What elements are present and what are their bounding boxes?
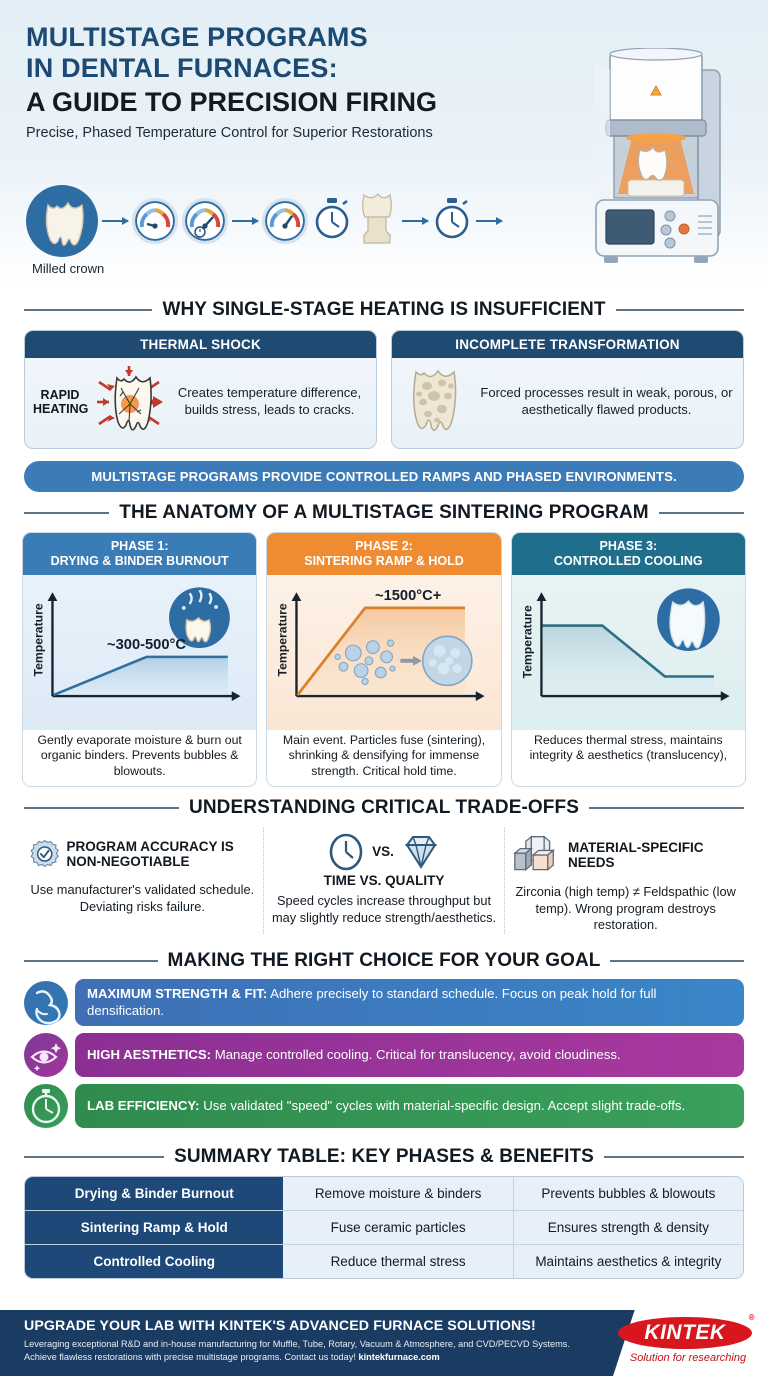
kintek-logo: KINTEK ® Solution for researching xyxy=(618,1317,758,1364)
goal-label: MAXIMUM STRENGTH & FIT: xyxy=(87,986,267,1001)
phase-card-2: PHASE 2: SINTERING RAMP & HOLD Temperatu… xyxy=(266,532,501,787)
process-flow: Milled crown xyxy=(26,185,546,281)
summary-table: Drying & Binder Burnout Remove moisture … xyxy=(24,1176,744,1279)
phase-header: PHASE 2: SINTERING RAMP & HOLD xyxy=(267,533,500,575)
eye-sparkle-icon xyxy=(24,1033,68,1077)
divider-line xyxy=(24,512,109,514)
footer-line-1: Leveraging exceptional R&D and in-house … xyxy=(24,1339,570,1349)
process-flow-steps xyxy=(26,185,546,257)
table-row: Controlled Cooling Reduce thermal stress… xyxy=(25,1244,743,1278)
card-text: Forced processes result in weak, porous,… xyxy=(478,385,735,418)
goal-list: MAXIMUM STRENGTH & FIT: Adhere precisely… xyxy=(24,979,744,1128)
divider-line xyxy=(616,309,744,311)
phase-2-value: ~1500°C+ xyxy=(375,588,441,604)
goal-high-aesthetics[interactable]: HIGH AESTHETICS: Manage controlled cooli… xyxy=(24,1033,744,1077)
logo-word: KINTEK xyxy=(644,1321,725,1345)
phase-2-chart: Temperature ~1500°C+ xyxy=(271,581,496,723)
phase-cards: PHASE 1: DRYING & BINDER BURNOUT xyxy=(22,532,746,787)
furnace-icon xyxy=(570,48,760,283)
table-row: Sintering Ramp & Hold Fuse ceramic parti… xyxy=(25,1210,743,1244)
phase-caption: Reduces thermal stress, maintains integr… xyxy=(512,730,745,771)
flow-arrow xyxy=(102,220,128,222)
y-axis-label: Temperature xyxy=(276,603,290,676)
stopwatch-icon xyxy=(432,196,472,247)
divider-line xyxy=(610,960,744,962)
footer-subtext: Leveraging exceptional R&D and in-house … xyxy=(24,1338,604,1365)
table-cell-phase: Drying & Binder Burnout xyxy=(25,1177,283,1210)
registered-mark-icon: ® xyxy=(749,1313,755,1322)
clock-icon xyxy=(327,831,365,871)
divider-line xyxy=(24,309,152,311)
goal-label: LAB EFFICIENCY: xyxy=(87,1098,200,1113)
phase-1-value: ~300-500°C xyxy=(107,637,186,653)
gauge-icon xyxy=(132,198,178,244)
y-axis-label: Temperature xyxy=(32,603,46,676)
section-title-why: WHY SINGLE-STAGE HEATING IS INSUFFICIENT xyxy=(24,289,744,321)
table-cell-phase: Controlled Cooling xyxy=(25,1245,283,1278)
multistage-banner: MULTISTAGE PROGRAMS PROVIDE CONTROLLED R… xyxy=(24,461,744,492)
divider-line xyxy=(24,960,158,962)
table-cell-phase: Sintering Ramp & Hold xyxy=(25,1211,283,1244)
phase-1-chart: Temperature ~300-500°C xyxy=(27,581,252,723)
phase-header: PHASE 1: DRYING & BINDER BURNOUT xyxy=(23,533,256,575)
phase-head-line2: CONTROLLED COOLING xyxy=(515,554,742,569)
tradeoff-material-specific: MATERIAL-SPECIFIC NEEDS Zirconia (high t… xyxy=(504,827,746,934)
milled-crown-label: Milled crown xyxy=(32,261,546,276)
footer-text: UPGRADE YOUR LAB WITH KINTEK'S ADVANCED … xyxy=(24,1318,604,1365)
card-text: Creates temperature difference, builds s… xyxy=(171,385,368,418)
goal-text: HIGH AESTHETICS: Manage controlled cooli… xyxy=(75,1033,744,1077)
phase-3-chart: Temperature xyxy=(516,581,741,723)
phase-caption: Main event. Particles fuse (sintering), … xyxy=(267,730,500,786)
tradeoff-columns: PROGRAM ACCURACY IS NON-NEGOTIABLE Use m… xyxy=(22,827,746,934)
flow-arrow xyxy=(476,220,502,222)
material-cubes-icon xyxy=(513,831,561,879)
table-cell-benefit: Ensures strength & density xyxy=(514,1211,743,1244)
why-cards: THERMAL SHOCK RAPIDHEATING xyxy=(24,330,744,449)
goal-lab-efficiency[interactable]: LAB EFFICIENCY: Use validated "speed" cy… xyxy=(24,1084,744,1128)
goal-body: Use validated "speed" cycles with materi… xyxy=(200,1098,686,1113)
section-title-summary: SUMMARY TABLE: KEY PHASES & BENEFITS xyxy=(24,1136,744,1168)
table-cell-action: Remove moisture & binders xyxy=(283,1177,513,1210)
goal-body: Manage controlled cooling. Critical for … xyxy=(211,1047,621,1062)
phase-head-line1: PHASE 1: xyxy=(26,539,253,554)
vs-label: VS. xyxy=(372,844,394,859)
card-thermal-shock: THERMAL SHOCK RAPIDHEATING xyxy=(24,330,377,449)
muscle-arm-icon xyxy=(24,981,68,1025)
goal-text: MAXIMUM STRENGTH & FIT: Adhere precisely… xyxy=(75,979,744,1026)
tradeoff-desc: Speed cycles increase throughput but may… xyxy=(272,893,497,926)
tradeoff-program-accuracy: PROGRAM ACCURACY IS NON-NEGOTIABLE Use m… xyxy=(22,827,263,934)
section-heading: SUMMARY TABLE: KEY PHASES & BENEFITS xyxy=(174,1146,594,1168)
logo-text: KINTEK ® xyxy=(618,1317,752,1349)
infographic-page: MULTISTAGE PROGRAMS IN DENTAL FURNACES: … xyxy=(0,0,768,1376)
diamond-icon xyxy=(401,831,441,871)
tradeoff-desc: Zirconia (high temp) ≠ Feldspathic (low … xyxy=(513,884,738,934)
phase-card-1: PHASE 1: DRYING & BINDER BURNOUT xyxy=(22,532,257,787)
card-header: INCOMPLETE TRANSFORMATION xyxy=(392,331,743,358)
tradeoff-title: PROGRAM ACCURACY IS NON-NEGOTIABLE xyxy=(66,839,254,870)
table-cell-benefit: Maintains aesthetics & integrity xyxy=(514,1245,743,1278)
phase-head-line2: SINTERING RAMP & HOLD xyxy=(270,554,497,569)
stopwatch-icon xyxy=(312,196,352,247)
gear-check-icon xyxy=(30,831,59,877)
section-title-tradeoffs: UNDERSTANDING CRITICAL TRADE-OFFS xyxy=(24,787,744,819)
phase-head-line2: DRYING & BINDER BURNOUT xyxy=(26,554,253,569)
divider-line xyxy=(589,807,744,809)
table-cell-action: Fuse ceramic particles xyxy=(283,1211,513,1244)
phase-head-line1: PHASE 2: xyxy=(270,539,497,554)
section-title-anatomy: THE ANATOMY OF A MULTISTAGE SINTERING PR… xyxy=(24,492,744,524)
divider-line xyxy=(24,807,179,809)
table-cell-action: Reduce thermal stress xyxy=(283,1245,513,1278)
footer: UPGRADE YOUR LAB WITH KINTEK'S ADVANCED … xyxy=(0,1310,768,1376)
phase-card-3: PHASE 3: CONTROLLED COOLING Temperat xyxy=(511,532,746,787)
table-cell-benefit: Prevents bubbles & blowouts xyxy=(514,1177,743,1210)
logo-tagline: Solution for researching xyxy=(618,1352,758,1364)
tradeoff-title: TIME VS. QUALITY xyxy=(324,873,445,888)
goal-maximum-strength[interactable]: MAXIMUM STRENGTH & FIT: Adhere precisely… xyxy=(24,979,744,1026)
section-heading: MAKING THE RIGHT CHOICE FOR YOUR GOAL xyxy=(168,950,601,972)
crown-icon xyxy=(26,185,98,257)
flow-arrow xyxy=(232,220,258,222)
section-heading: WHY SINGLE-STAGE HEATING IS INSUFFICIENT xyxy=(162,299,605,321)
rapid-heating-label: RAPIDHEATING xyxy=(33,388,87,417)
section-heading: THE ANATOMY OF A MULTISTAGE SINTERING PR… xyxy=(119,502,648,524)
footer-headline: UPGRADE YOUR LAB WITH KINTEK'S ADVANCED … xyxy=(24,1318,604,1334)
divider-line xyxy=(604,1156,744,1158)
porous-tooth-icon xyxy=(400,362,472,442)
crown-post-icon xyxy=(356,191,398,252)
tradeoff-desc: Use manufacturer's validated schedule. D… xyxy=(30,882,255,915)
divider-line xyxy=(24,1156,164,1158)
footer-url[interactable]: kintekfurnace.com xyxy=(358,1352,439,1362)
divider-line xyxy=(659,512,744,514)
gauge-icon xyxy=(262,198,308,244)
card-header: THERMAL SHOCK xyxy=(25,331,376,358)
phase-head-line1: PHASE 3: xyxy=(515,539,742,554)
phase-caption: Gently evaporate moisture & burn out org… xyxy=(23,730,256,786)
tradeoff-time-vs-quality: VS. TIME VS. QUALITY Speed cycles increa… xyxy=(263,827,505,934)
gauge-clock-icon xyxy=(182,198,228,244)
table-row: Drying & Binder Burnout Remove moisture … xyxy=(25,1177,743,1210)
goal-text: LAB EFFICIENCY: Use validated "speed" cy… xyxy=(75,1084,744,1128)
tradeoff-title: MATERIAL-SPECIFIC NEEDS xyxy=(568,840,738,871)
goal-label: HIGH AESTHETICS: xyxy=(87,1047,211,1062)
y-axis-label: Temperature xyxy=(520,605,534,678)
cracked-tooth-icon xyxy=(93,362,165,442)
stopwatch-icon xyxy=(24,1084,68,1128)
flow-arrow xyxy=(402,220,428,222)
section-heading: UNDERSTANDING CRITICAL TRADE-OFFS xyxy=(189,797,579,819)
card-incomplete-transformation: INCOMPLETE TRANSFORMATION Forced process… xyxy=(391,330,744,449)
phase-header: PHASE 3: CONTROLLED COOLING xyxy=(512,533,745,575)
section-title-goals: MAKING THE RIGHT CHOICE FOR YOUR GOAL xyxy=(24,940,744,972)
footer-line-2: Achieve flawless restorations with preci… xyxy=(24,1352,358,1362)
